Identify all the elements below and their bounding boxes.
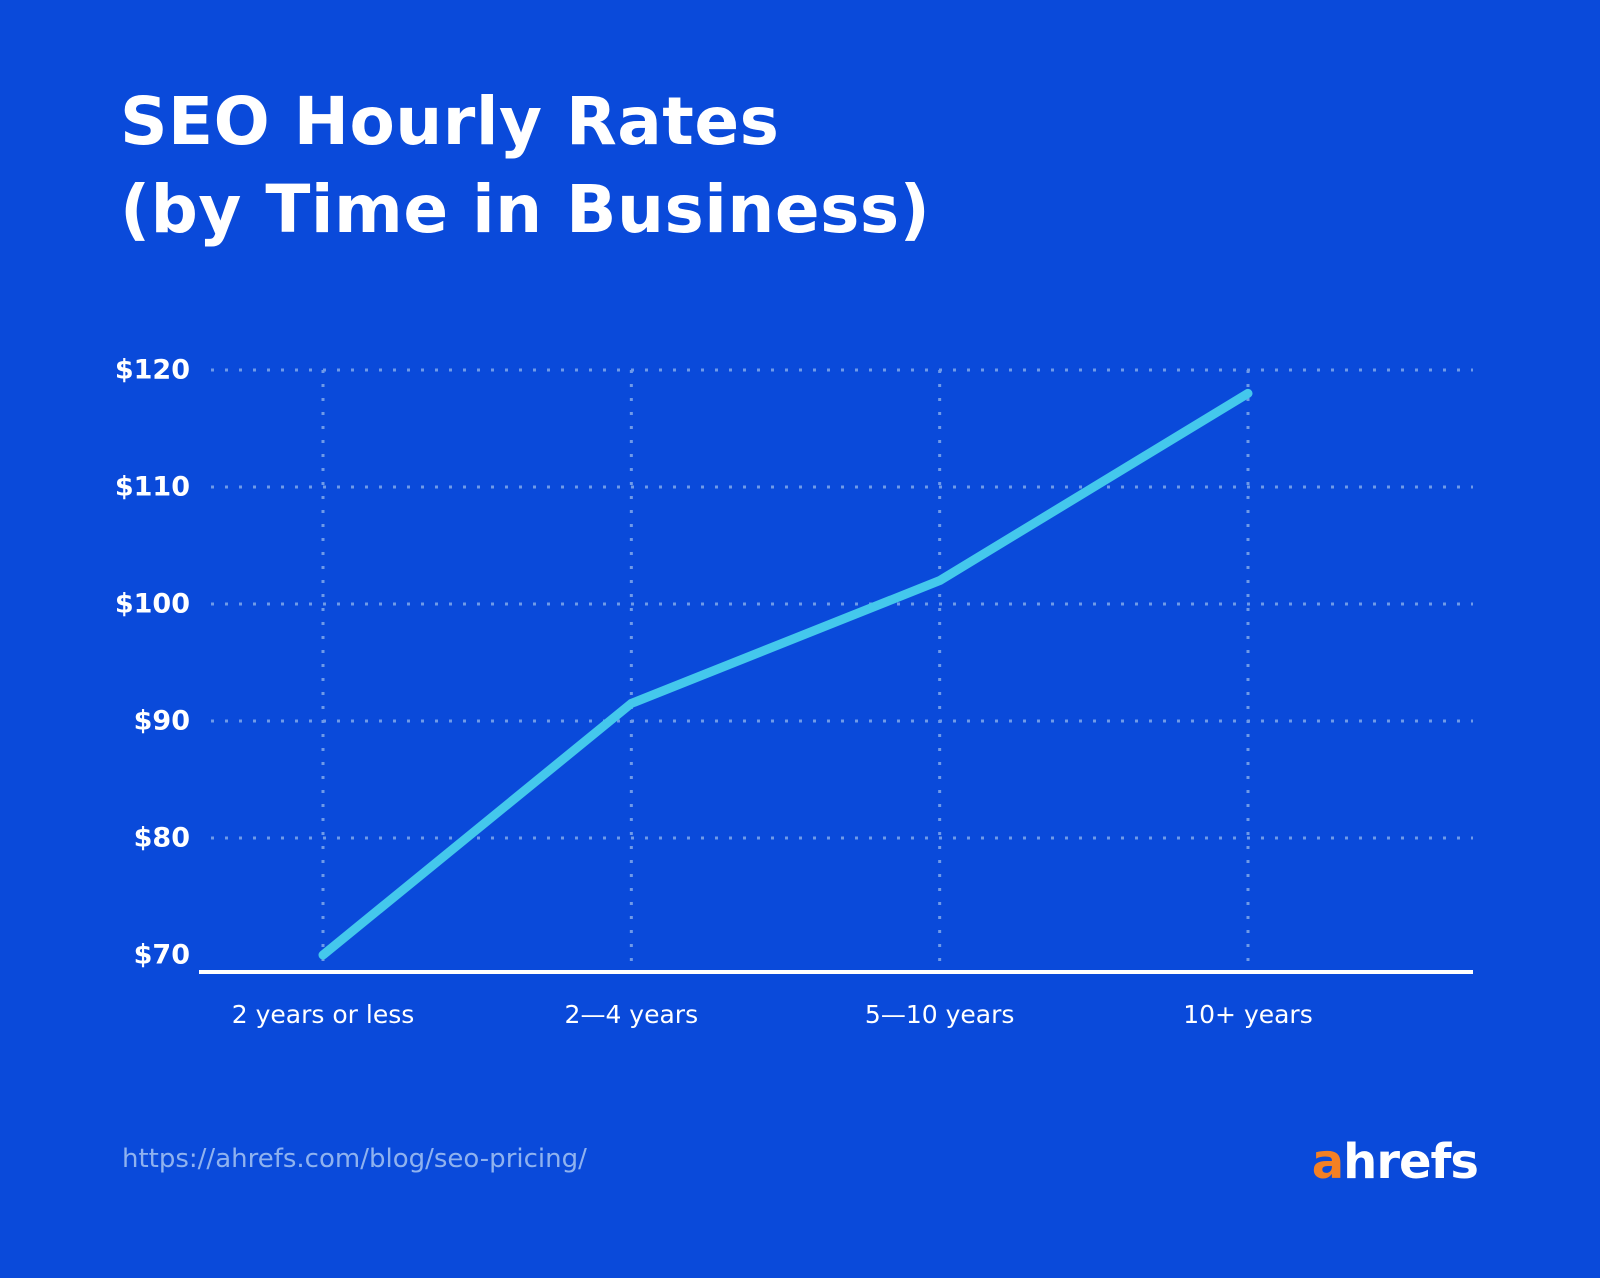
x-axis-tick-labels: 2 years or less2—4 years5—10 years10+ ye… [0,0,1600,1278]
logo-letter-a: a [1312,1134,1343,1190]
x-tick-label: 10+ years [1038,1000,1458,1029]
infographic-canvas: SEO Hourly Rates (by Time in Business) $… [0,0,1600,1278]
source-url[interactable]: https://ahrefs.com/blog/seo-pricing/ [122,1144,587,1174]
line-chart: $70$80$90$100$110$120 2 years or less2—4… [0,0,1600,1278]
ahrefs-logo[interactable]: ahrefs [1312,1134,1478,1190]
logo-text-hrefs: hrefs [1343,1134,1478,1190]
